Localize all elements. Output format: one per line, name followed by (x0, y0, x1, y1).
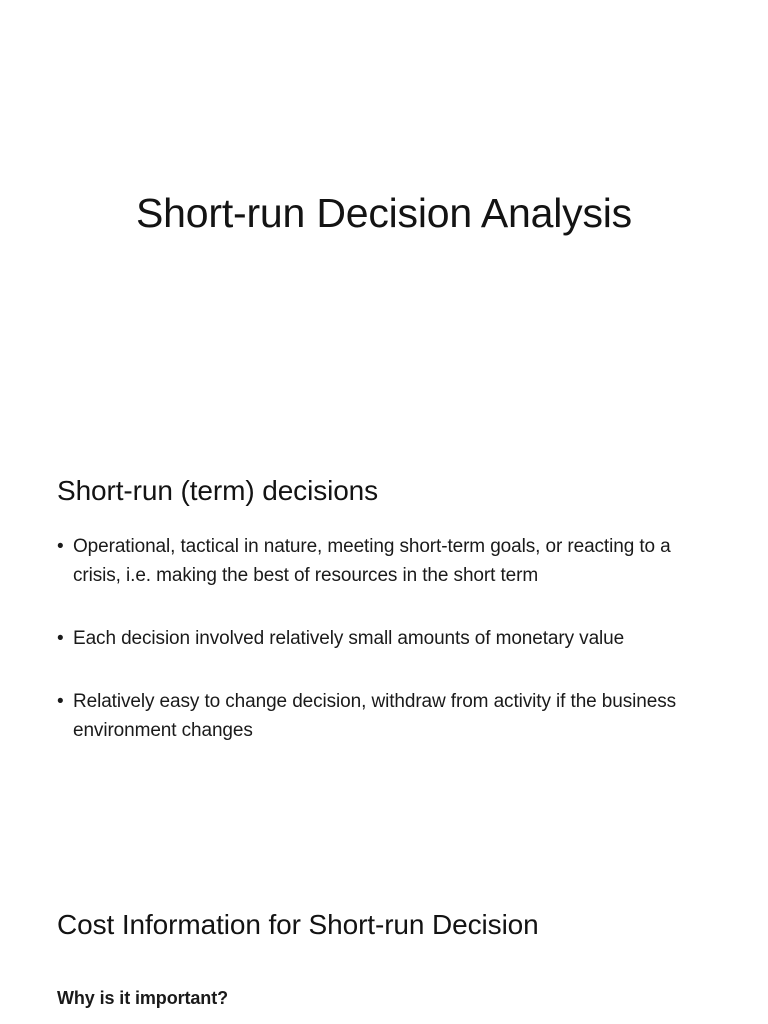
bullet-dot-icon: • (57, 624, 64, 653)
list-item: • Operational, tactical in nature, meeti… (57, 532, 717, 590)
section-cost-information: Cost Information for Short-run Decision … (57, 906, 717, 1011)
list-item-text: Each decision involved relatively small … (73, 624, 717, 653)
section-heading-cost-information: Cost Information for Short-run Decision (57, 906, 717, 944)
list-item: • Each decision involved relatively smal… (57, 624, 717, 653)
bullet-list-short-run-decisions: • Operational, tactical in nature, meeti… (57, 532, 717, 745)
list-item-text: Relatively easy to change decision, with… (73, 687, 717, 745)
page-title: Short-run Decision Analysis (0, 187, 768, 239)
list-item-text: Operational, tactical in nature, meeting… (73, 532, 717, 590)
subquestion-text: Why is it important? (57, 985, 717, 1011)
bullet-dot-icon: • (57, 532, 64, 561)
slide-page: Short-run Decision Analysis Short-run (t… (0, 0, 768, 1024)
bullet-dot-icon: • (57, 687, 64, 716)
section-heading-short-run-decisions: Short-run (term) decisions (57, 472, 717, 510)
list-item: • Relatively easy to change decision, wi… (57, 687, 717, 745)
section-short-run-decisions: Short-run (term) decisions • Operational… (57, 472, 717, 745)
